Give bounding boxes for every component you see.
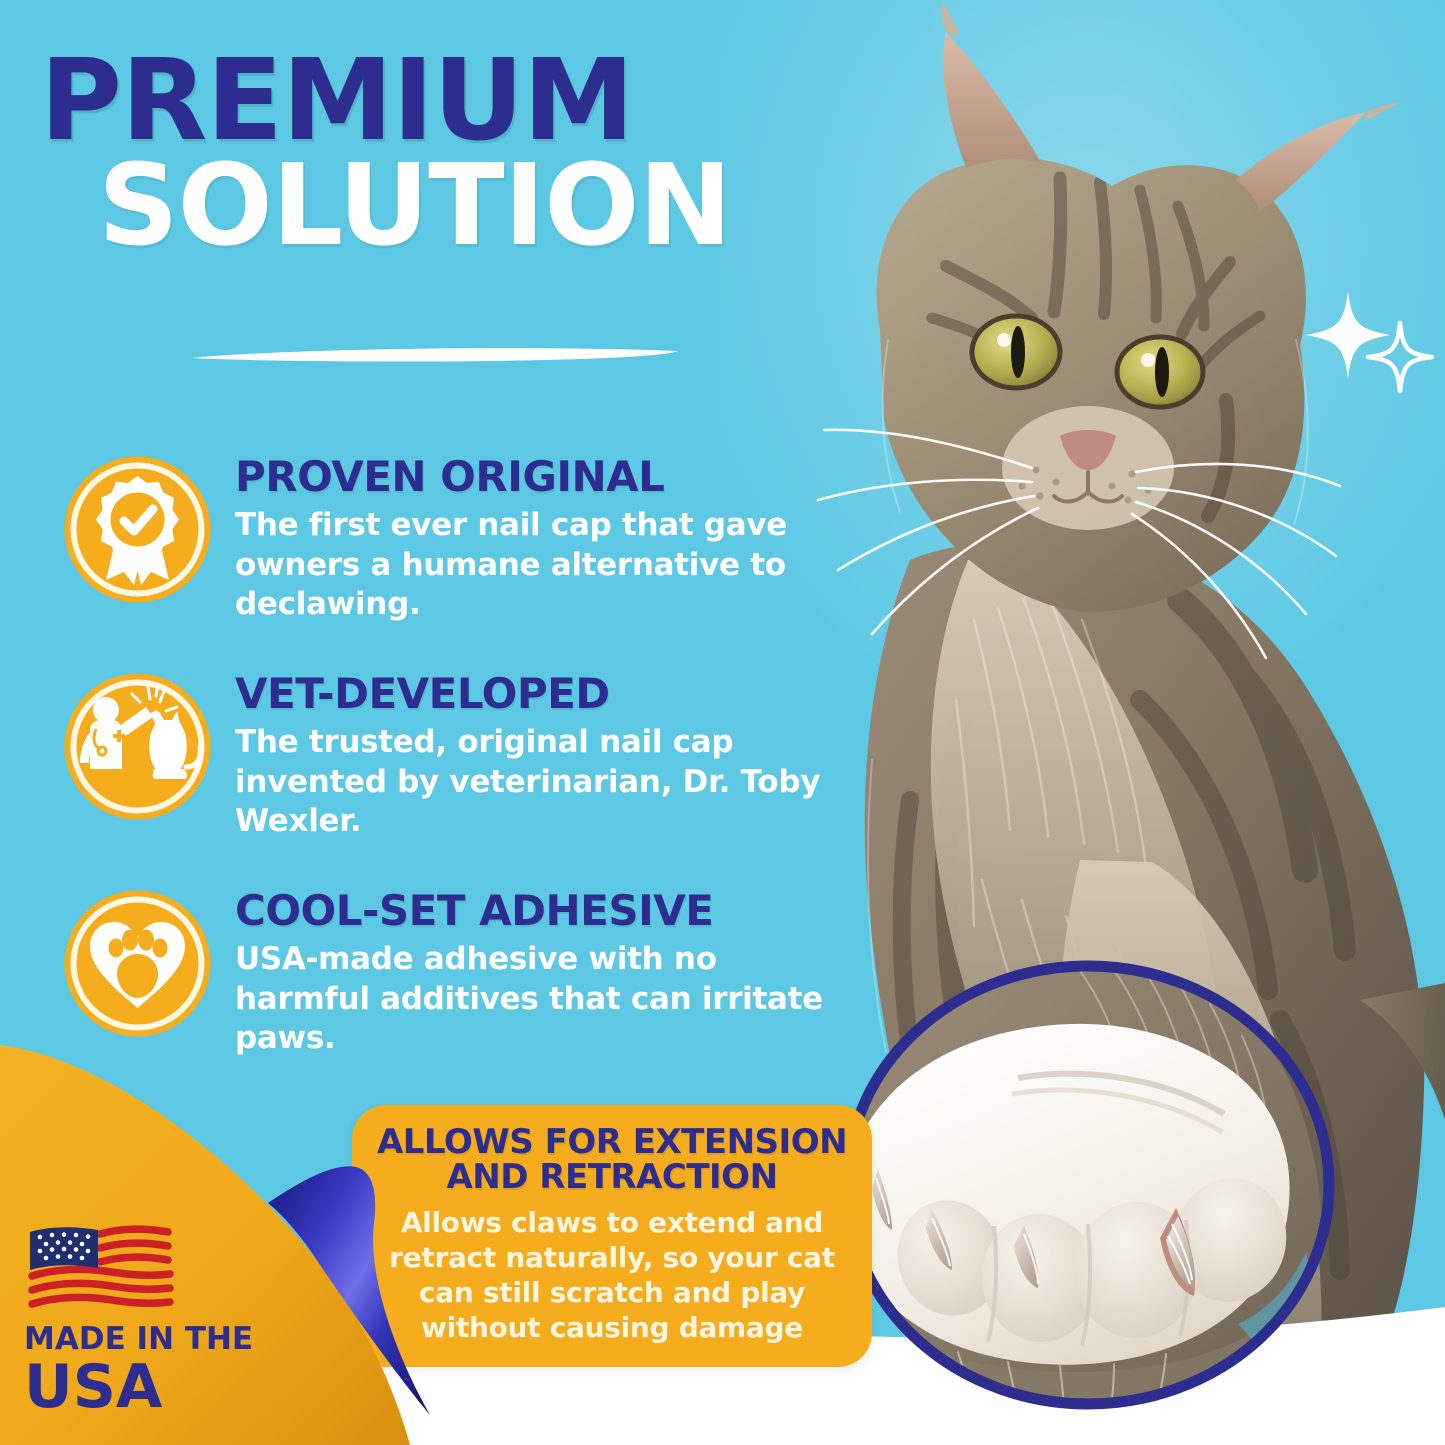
product-feature-graphic: PREMIUM SOLUTION PROVEN ORIGINAL The fir… <box>0 0 1445 1445</box>
cat-right-ear <box>1236 112 1366 212</box>
sparkle-stars-icon <box>1300 285 1435 400</box>
feature-item: COOL-SET ADHESIVE USA-made adhesive with… <box>60 884 850 1059</box>
feature-list: PROVEN ORIGINAL The first ever nail cap … <box>60 450 850 1101</box>
usa-label: USA <box>24 1357 274 1417</box>
feature-body: The trusted, original nail cap invented … <box>235 723 835 842</box>
feature-text: COOL-SET ADHESIVE USA-made adhesive with… <box>235 884 850 1059</box>
us-flag-icon <box>24 1222 174 1314</box>
headline: PREMIUM SOLUTION <box>40 52 830 255</box>
feature-text: VET-DEVELOPED The trusted, original nail… <box>235 667 850 842</box>
headline-premium: PREMIUM <box>40 52 830 151</box>
headline-solution: SOLUTION <box>98 157 830 256</box>
feature-text: PROVEN ORIGINAL The first ever nail cap … <box>235 450 850 625</box>
feature-title: COOL-SET ADHESIVE <box>235 890 850 932</box>
cat-right-eye <box>1117 337 1203 407</box>
made-in-the-label: MADE IN THE <box>24 1324 274 1355</box>
cat-left-eye <box>972 316 1060 388</box>
feature-title: PROVEN ORIGINAL <box>235 456 850 498</box>
cat-right-ear-tuft <box>1364 103 1400 122</box>
feature-title: VET-DEVELOPED <box>235 673 850 715</box>
sparkle-large-filled <box>1306 291 1390 379</box>
made-in-usa-badge: MADE IN THE USA <box>24 1222 274 1417</box>
cat-left-ear-tuft <box>941 2 960 36</box>
cat-paw-with-nail-caps-closeup <box>838 958 1338 1413</box>
cat-left-ear <box>943 32 1042 168</box>
feature-item: VET-DEVELOPED The trusted, original nail… <box>60 667 850 842</box>
brush-stroke-divider <box>190 345 680 363</box>
vet-high-five-cat-icon <box>60 669 215 824</box>
feature-item: PROVEN ORIGINAL The first ever nail cap … <box>60 450 850 625</box>
cat-head <box>877 158 1306 612</box>
award-ribbon-icon <box>60 452 215 607</box>
feature-body: USA-made adhesive with no harmful additi… <box>235 940 835 1059</box>
feature-body: The first ever nail cap that gave owners… <box>235 506 835 625</box>
heart-paw-icon <box>60 886 215 1041</box>
